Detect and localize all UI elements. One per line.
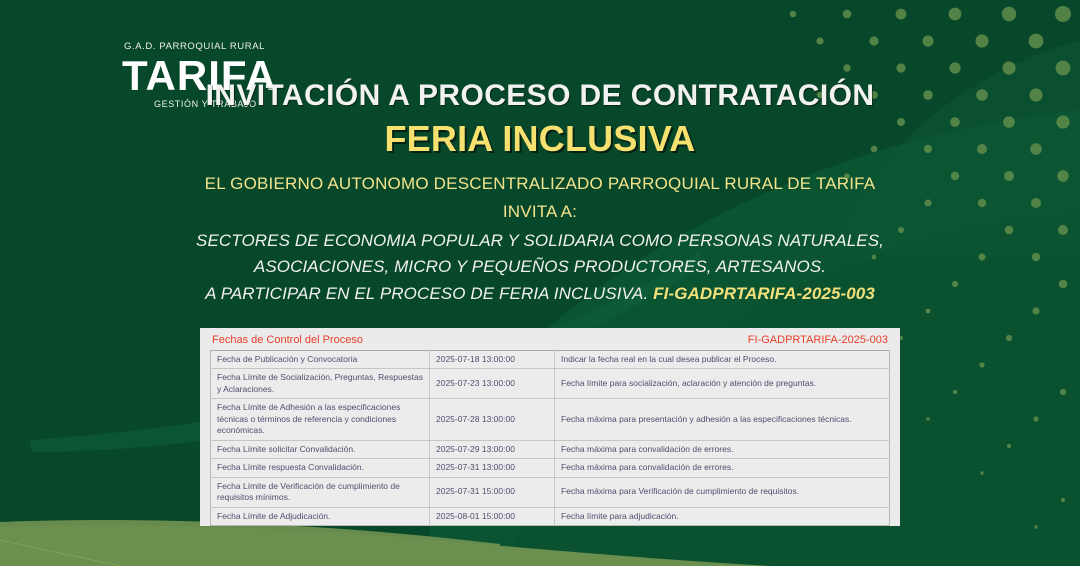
poster-canvas: G.A.D. PARROQUIAL RURAL TARIFA GESTIÓN Y… [0, 0, 1080, 566]
panel-header: Fechas de Control del Proceso FI-GADPRTA… [210, 334, 890, 350]
row-date: 2025-07-29 13:00:00 [430, 440, 555, 458]
row-description: Fecha máxima para presentación y adhesió… [555, 399, 890, 440]
table-row: Fecha Límite de Adhesión a las especific… [211, 399, 890, 440]
row-description: Fecha límite para socialización, aclarac… [555, 369, 890, 399]
panel-header-title: Fechas de Control del Proceso [212, 334, 363, 346]
body-group: SECTORES DE ECONOMIA POPULAR Y SOLIDARIA… [0, 228, 1080, 307]
row-date: 2025-07-28 13:00:00 [430, 399, 555, 440]
row-date: 2025-07-31 15:00:00 [430, 477, 555, 507]
row-label: Fecha Límite de Adhesión a las especific… [211, 399, 430, 440]
table-row: Fecha Límite respuesta Convalidación.202… [211, 459, 890, 477]
body-line-3: A PARTICIPAR EN EL PROCESO DE FERIA INCL… [0, 281, 1080, 307]
row-label: Fecha Límite de Adjudicación. [211, 507, 430, 525]
row-label: Fecha Límite de Socialización, Preguntas… [211, 369, 430, 399]
row-description: Fecha máxima para convalidación de error… [555, 459, 890, 477]
row-label: Fecha Límite de Verificación de cumplimi… [211, 477, 430, 507]
table-row: Fecha Límite de Socialización, Preguntas… [211, 369, 890, 399]
table-row: Fecha Límite de Adjudicación.2025-08-01 … [211, 507, 890, 525]
row-date: 2025-07-23 13:00:00 [430, 369, 555, 399]
row-date: 2025-08-01 15:00:00 [430, 507, 555, 525]
panel-header-code: FI-GADPRTARIFA-2025-003 [748, 334, 888, 346]
row-date: 2025-07-31 13:00:00 [430, 459, 555, 477]
table-row: Fecha de Publicación y Convocatoria2025-… [211, 351, 890, 369]
body-line-3-prefix: A PARTICIPAR EN EL PROCESO DE FERIA INCL… [205, 284, 653, 303]
process-code: FI-GADPRTARIFA-2025-003 [653, 284, 875, 303]
table-row: Fecha Límite de Verificación de cumplimi… [211, 477, 890, 507]
body-line-2: ASOCIACIONES, MICRO Y PEQUEÑOS PRODUCTOR… [0, 254, 1080, 280]
subtitle-line-1: EL GOBIERNO AUTONOMO DESCENTRALIZADO PAR… [0, 171, 1080, 197]
process-dates-panel: Fechas de Control del Proceso FI-GADPRTA… [200, 328, 900, 526]
table-row: Fecha Límite solicitar Convalidación.202… [211, 440, 890, 458]
row-description: Fecha límite para adjudicación. [555, 507, 890, 525]
body-line-1: SECTORES DE ECONOMIA POPULAR Y SOLIDARIA… [0, 228, 1080, 254]
row-label: Fecha Límite respuesta Convalidación. [211, 459, 430, 477]
headline-group: INVITACIÓN A PROCESO DE CONTRATACIÓN FER… [0, 80, 1080, 224]
subtitle-line-2: INVITA A: [0, 199, 1080, 225]
row-date: 2025-07-18 13:00:00 [430, 351, 555, 369]
process-dates-table: Fecha de Publicación y Convocatoria2025-… [210, 350, 890, 526]
row-description: Fecha máxima para convalidación de error… [555, 440, 890, 458]
row-label: Fecha de Publicación y Convocatoria [211, 351, 430, 369]
highlight-title: FERIA INCLUSIVA [0, 120, 1080, 158]
row-description: Indicar la fecha real en la cual desea p… [555, 351, 890, 369]
row-description: Fecha máxima para Verificación de cumpli… [555, 477, 890, 507]
logo-top-text: G.A.D. PARROQUIAL RURAL [124, 41, 265, 52]
page-title: INVITACIÓN A PROCESO DE CONTRATACIÓN [0, 80, 1080, 112]
row-label: Fecha Límite solicitar Convalidación. [211, 440, 430, 458]
process-dates-body: Fecha de Publicación y Convocatoria2025-… [211, 351, 890, 526]
